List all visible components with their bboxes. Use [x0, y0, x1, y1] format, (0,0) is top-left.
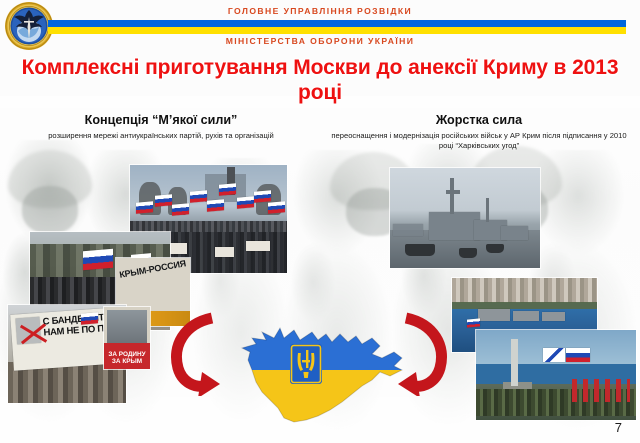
protest-sign2-text: ЗА РОДИНУ ЗА КРЫМ — [106, 351, 148, 366]
slide-canvas: ГОЛОВНЕ УПРАВЛІННЯ РОЗВІДКИ МІНІСТЕРСТВА… — [0, 0, 640, 443]
header-title-line1: ГОЛОВНЕ УПРАВЛІННЯ РОЗВІДКИ — [0, 6, 640, 16]
photo-naval-parade-troops — [476, 330, 636, 420]
column-hard-power-subtitle: переоснащення і модернізація російських … — [326, 131, 632, 151]
ukraine-trident-coat-of-arms — [290, 344, 322, 384]
flag-bar-yellow — [48, 27, 626, 34]
column-hard-power-heading: Жорстка сила — [326, 112, 632, 128]
column-soft-power: Концепція “М’якої сили” розширення мереж… — [8, 112, 314, 141]
photo-russian-warships-sevastopol — [390, 168, 540, 268]
russian-navy-flag — [543, 348, 565, 362]
header-title-line2: МІНІСТЕРСТВА ОБОРОНИ УКРАЇНИ — [0, 36, 640, 46]
photo-protest-sign-for-motherland: ЗА РОДИНУ ЗА КРЫМ — [104, 307, 150, 369]
crimea-map — [222, 308, 422, 432]
page-number: 7 — [615, 420, 622, 435]
curved-arrow-left — [168, 312, 226, 396]
page-title: Комплексні приготування Москви до анексі… — [8, 55, 632, 105]
column-soft-power-heading: Концепція “М’якої сили” — [8, 112, 314, 128]
flag-bar-blue — [48, 20, 626, 27]
russian-flag — [566, 348, 590, 362]
column-soft-power-subtitle: розширення мережі антиукраїнських партій… — [8, 131, 314, 141]
column-hard-power: Жорстка сила переоснащення і модернізаці… — [326, 112, 632, 151]
